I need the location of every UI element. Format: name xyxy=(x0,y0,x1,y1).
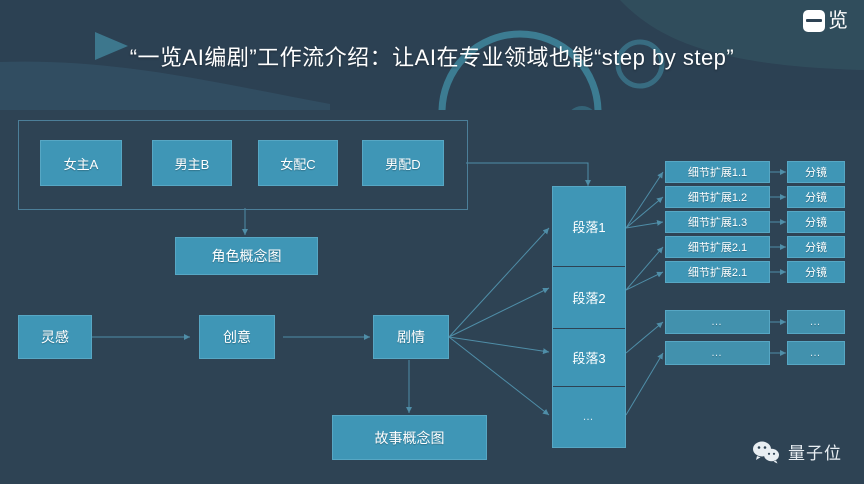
paragraph-label: 段落3 xyxy=(572,348,605,367)
watermark: 量子位 xyxy=(751,439,842,464)
flow-label: 创意 xyxy=(223,327,251,347)
detail-box-3[interactable]: 细节扩展2.1 xyxy=(665,236,770,258)
shot-box-1[interactable]: 分镜 xyxy=(787,186,845,208)
slide-canvas: “一览AI编剧”工作流介绍：让AI在专业领域也能“step by step” 览 xyxy=(0,0,864,484)
paragraph-stack: 段落1 段落2 段落3 … xyxy=(552,186,626,448)
paragraph-cell-1[interactable]: 段落1 xyxy=(553,187,625,267)
shot-box-6[interactable]: … xyxy=(787,341,845,365)
wechat-icon xyxy=(751,440,781,464)
flow-label: 灵感 xyxy=(41,327,69,347)
detail-label: … xyxy=(711,316,724,328)
story-concept-box[interactable]: 故事概念图 xyxy=(332,415,487,460)
detail-box-5[interactable]: … xyxy=(665,310,770,334)
shot-box-0[interactable]: 分镜 xyxy=(787,161,845,183)
character-box-1[interactable]: 男主B xyxy=(152,140,232,186)
flow-box-plot[interactable]: 剧情 xyxy=(373,315,449,359)
detail-box-1[interactable]: 细节扩展1.2 xyxy=(665,186,770,208)
detail-box-0[interactable]: 细节扩展1.1 xyxy=(665,161,770,183)
shot-box-3[interactable]: 分镜 xyxy=(787,236,845,258)
character-label: 男配D xyxy=(385,154,420,173)
shot-label: 分镜 xyxy=(805,239,827,255)
flow-box-idea[interactable]: 创意 xyxy=(199,315,275,359)
detail-label: … xyxy=(711,347,724,359)
character-label: 女主A xyxy=(64,154,99,173)
paragraph-cell-2[interactable]: 段落2 xyxy=(553,267,625,329)
character-concept-box[interactable]: 角色概念图 xyxy=(175,237,318,275)
shot-label: 分镜 xyxy=(805,264,827,280)
detail-label: 细节扩展1.2 xyxy=(688,189,747,205)
page-title: “一览AI编剧”工作流介绍：让AI在专业领域也能“step by step” xyxy=(0,40,864,72)
character-box-0[interactable]: 女主A xyxy=(40,140,122,186)
detail-label: 细节扩展1.3 xyxy=(688,214,747,230)
detail-box-2[interactable]: 细节扩展1.3 xyxy=(665,211,770,233)
brand-logo-text: 览 xyxy=(828,11,848,31)
paragraph-label: 段落1 xyxy=(572,217,605,236)
shot-label: … xyxy=(810,347,823,359)
character-box-3[interactable]: 男配D xyxy=(362,140,444,186)
character-box-2[interactable]: 女配C xyxy=(258,140,338,186)
shot-label: … xyxy=(810,316,823,328)
shot-box-2[interactable]: 分镜 xyxy=(787,211,845,233)
shot-label: 分镜 xyxy=(805,214,827,230)
rounded-square-logo-icon xyxy=(803,10,825,32)
diagram-canvas: 女主A 男主B 女配C 男配D 角色概念图 灵感 创意 剧情 故事概念图 xyxy=(0,110,864,484)
paragraph-cell-3[interactable]: 段落3 xyxy=(553,329,625,387)
character-label: 男主B xyxy=(175,154,210,173)
character-concept-label: 角色概念图 xyxy=(212,246,282,266)
shot-label: 分镜 xyxy=(805,189,827,205)
flow-label: 剧情 xyxy=(397,327,425,347)
paragraph-cell-more[interactable]: … xyxy=(553,387,625,447)
character-label: 女配C xyxy=(280,154,315,173)
flow-box-inspiration[interactable]: 灵感 xyxy=(18,315,92,359)
story-concept-label: 故事概念图 xyxy=(375,428,445,448)
detail-box-6[interactable]: … xyxy=(665,341,770,365)
paragraph-label: … xyxy=(583,411,596,423)
detail-label: 细节扩展1.1 xyxy=(688,164,747,180)
shot-label: 分镜 xyxy=(805,164,827,180)
detail-label: 细节扩展2.1 xyxy=(688,239,747,255)
paragraph-label: 段落2 xyxy=(572,288,605,307)
detail-box-4[interactable]: 细节扩展2.1 xyxy=(665,261,770,283)
brand-logo: 览 xyxy=(803,10,848,32)
detail-label: 细节扩展2.1 xyxy=(688,264,747,280)
shot-box-4[interactable]: 分镜 xyxy=(787,261,845,283)
slide-header: “一览AI编剧”工作流介绍：让AI在专业领域也能“step by step” 览 xyxy=(0,0,864,110)
watermark-text: 量子位 xyxy=(788,439,842,464)
shot-box-5[interactable]: … xyxy=(787,310,845,334)
